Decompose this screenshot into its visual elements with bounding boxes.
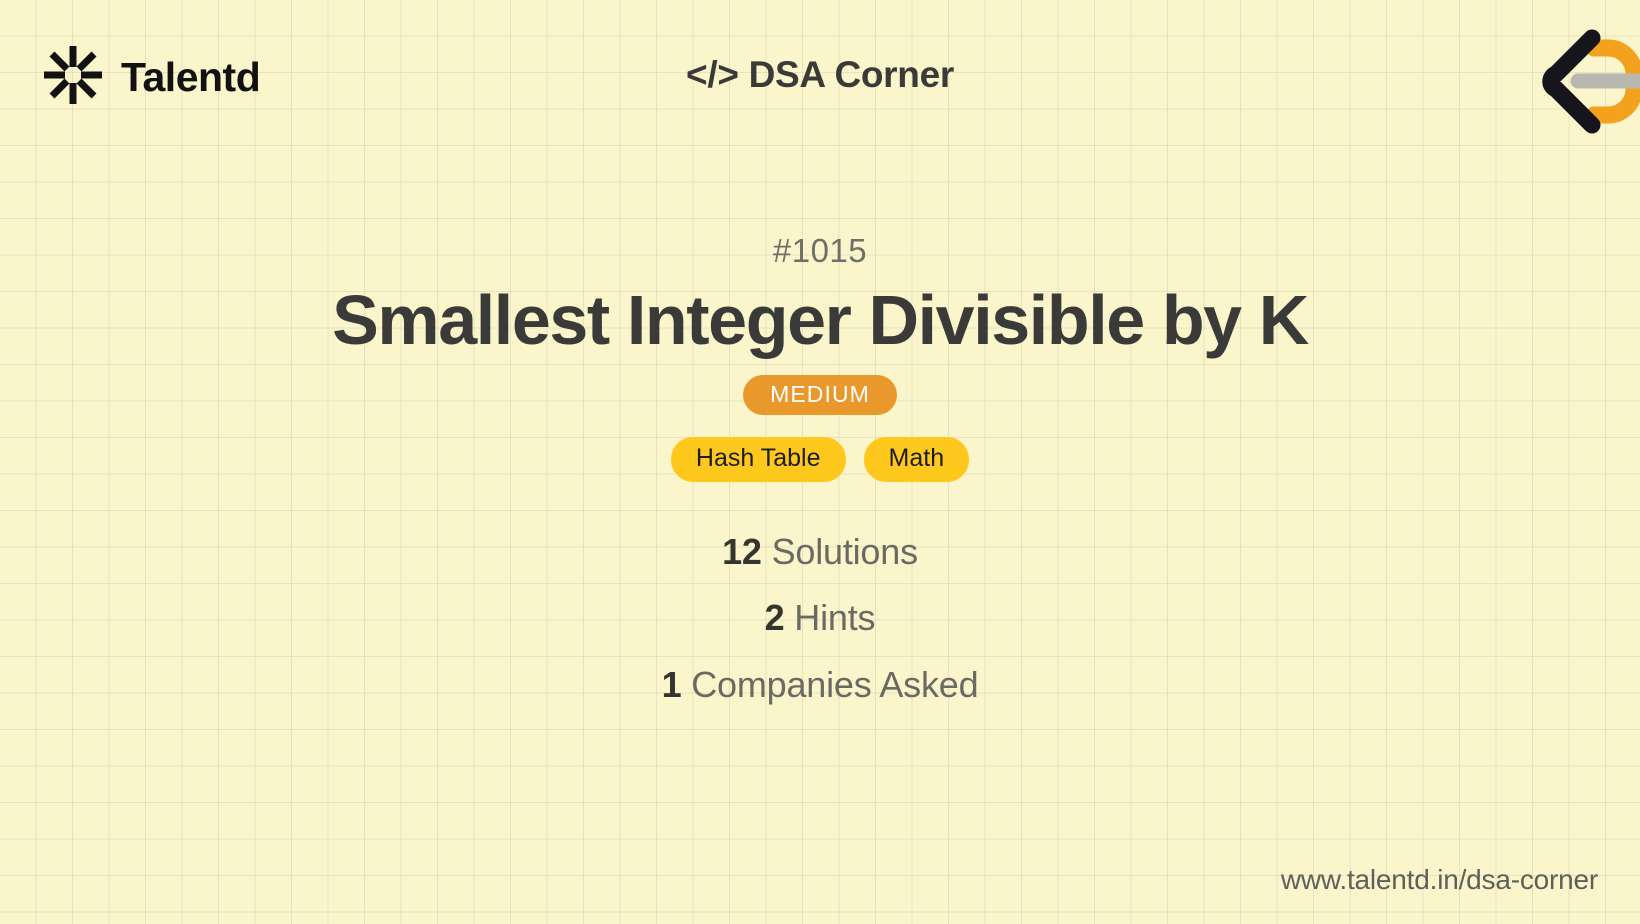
stat-value: 2 bbox=[765, 597, 785, 638]
code-bracket-logo-icon bbox=[1516, 24, 1640, 144]
stat-value: 1 bbox=[662, 664, 682, 705]
problem-title: Smallest Integer Divisible by K bbox=[0, 283, 1640, 359]
stat-value: 12 bbox=[722, 531, 762, 572]
footer-url[interactable]: www.talentd.in/dsa-corner bbox=[1281, 864, 1598, 896]
stat-row-companies: 1 Companies Asked bbox=[0, 652, 1640, 719]
topic-tag[interactable]: Math bbox=[864, 437, 970, 482]
difficulty-badge: MEDIUM bbox=[743, 375, 897, 415]
stat-label: Solutions bbox=[772, 531, 918, 572]
topic-tag[interactable]: Hash Table bbox=[671, 437, 846, 482]
topic-tags: Hash Table Math bbox=[0, 437, 1640, 482]
stat-row-solutions: 12 Solutions bbox=[0, 519, 1640, 586]
dsa-corner-card: Talentd </> DSA Corner #1015 Smallest In… bbox=[0, 0, 1640, 924]
problem-number: #1015 bbox=[0, 232, 1640, 270]
stat-label: Hints bbox=[794, 597, 875, 638]
header: Talentd </> DSA Corner bbox=[0, 0, 1640, 150]
stat-row-hints: 2 Hints bbox=[0, 585, 1640, 652]
stat-label: Companies Asked bbox=[691, 664, 978, 705]
difficulty-row: MEDIUM bbox=[0, 375, 1640, 415]
problem-summary: #1015 Smallest Integer Divisible by K ME… bbox=[0, 232, 1640, 719]
page-title: </> DSA Corner bbox=[0, 54, 1640, 96]
stats-list: 12 Solutions 2 Hints 1 Companies Asked bbox=[0, 519, 1640, 720]
